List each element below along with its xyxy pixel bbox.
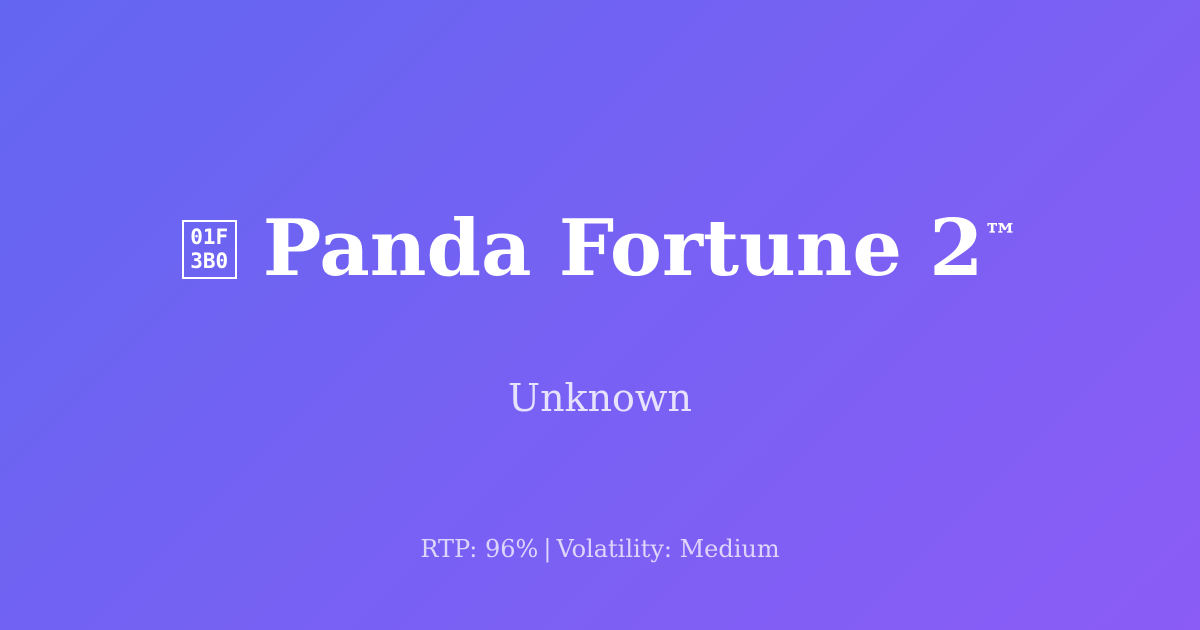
slot-machine-emoji-icon: 01F 3B0 [182, 220, 237, 279]
game-title-row: 01F 3B0 Panda Fortune 2™ [182, 156, 1019, 342]
provider-label: Unknown [508, 376, 692, 422]
volatility-value: Volatility: Medium [556, 535, 779, 563]
game-title-text: Panda Fortune 2 [263, 203, 984, 294]
meta-separator: | [538, 535, 556, 563]
share-card: 01F 3B0 Panda Fortune 2™ Unknown RTP: 96… [0, 0, 1200, 630]
rtp-value: RTP: 96% [420, 535, 538, 563]
page-title: Panda Fortune 2™ [263, 208, 1019, 290]
tofu-codepoint-top: 01F [190, 225, 228, 249]
trademark-symbol: ™ [983, 217, 1018, 257]
game-meta-line: RTP: 96%|Volatility: Medium [0, 535, 1200, 564]
tofu-codepoint-bottom: 3B0 [190, 249, 228, 273]
